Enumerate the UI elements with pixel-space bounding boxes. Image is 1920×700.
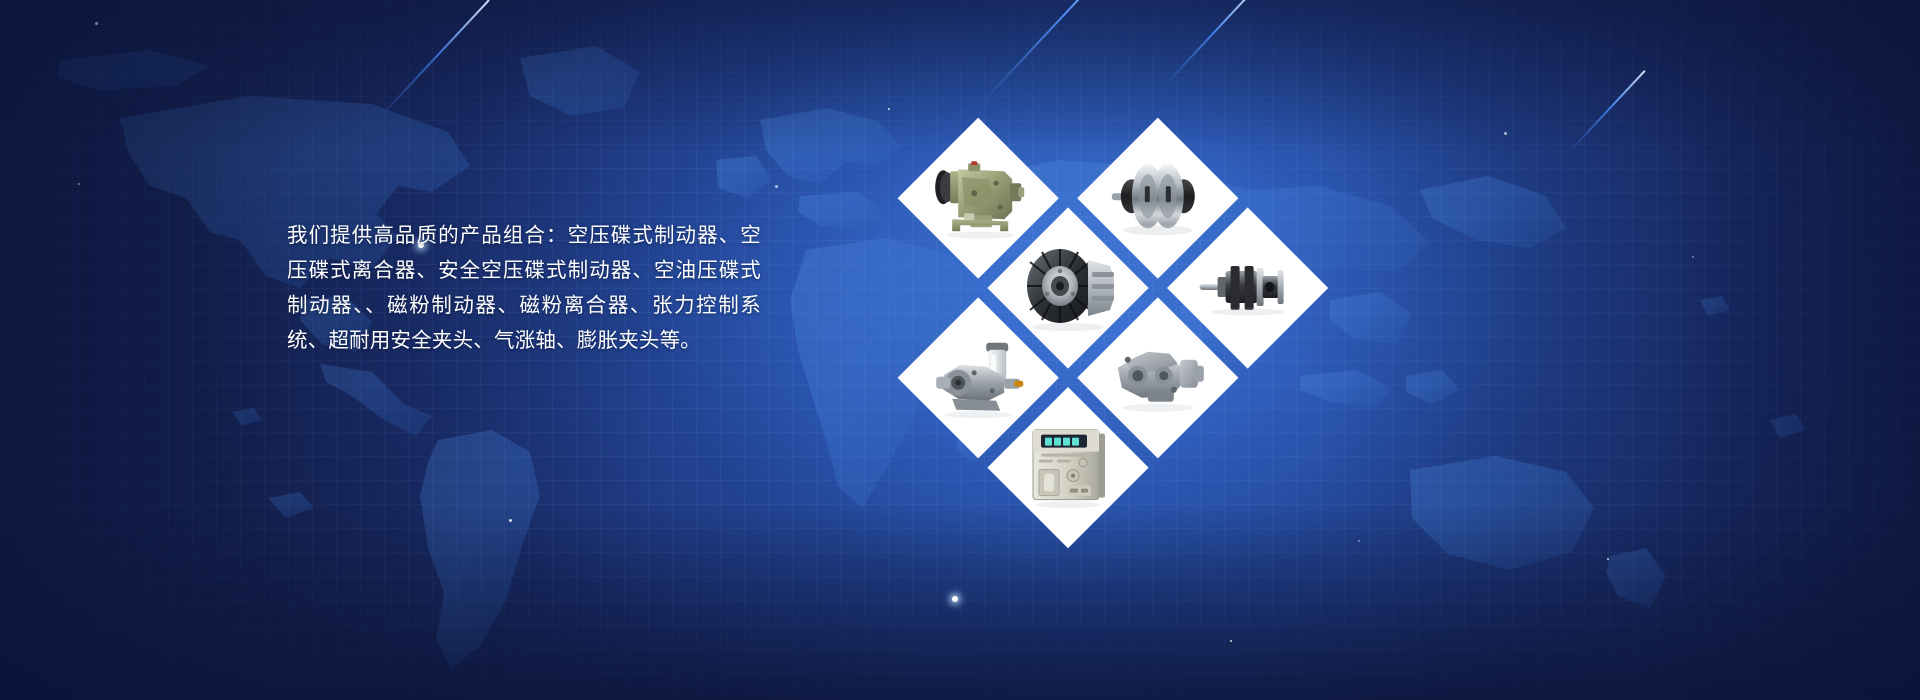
- banner-description-text: 我们提供高品质的产品组合：空压碟式制动器、空压碟式离合器、安全空压碟式制动器、空…: [287, 218, 761, 358]
- master-cylinder-icon: [921, 321, 1035, 435]
- star-dot: [1504, 132, 1507, 135]
- star-dot: [1692, 256, 1694, 258]
- star-dot: [509, 519, 512, 522]
- banner-description: 我们提供高品质的产品组合：空压碟式制动器、空压碟式离合器、安全空压碟式制动器、空…: [287, 218, 761, 358]
- star-dot: [775, 185, 778, 188]
- controller-panel-icon: [1011, 411, 1125, 525]
- finned-rotor-icon: [1011, 231, 1125, 345]
- star-dot: [1230, 640, 1232, 642]
- star-dot: [1358, 540, 1360, 542]
- star-dot: [888, 108, 890, 110]
- gearbox-icon: [921, 141, 1035, 255]
- star-dot: [1607, 558, 1609, 560]
- hero-banner: 我们提供高品质的产品组合：空压碟式制动器、空压碟式离合器、安全空压碟式制动器、空…: [0, 0, 1920, 700]
- star-dot: [952, 596, 958, 602]
- star-dot: [78, 183, 80, 185]
- star-dot: [95, 22, 98, 25]
- twin-disc-clutch-icon: [1101, 141, 1215, 255]
- caliper-brake-icon: [1101, 321, 1215, 435]
- shaft-brake-icon: [1191, 231, 1305, 345]
